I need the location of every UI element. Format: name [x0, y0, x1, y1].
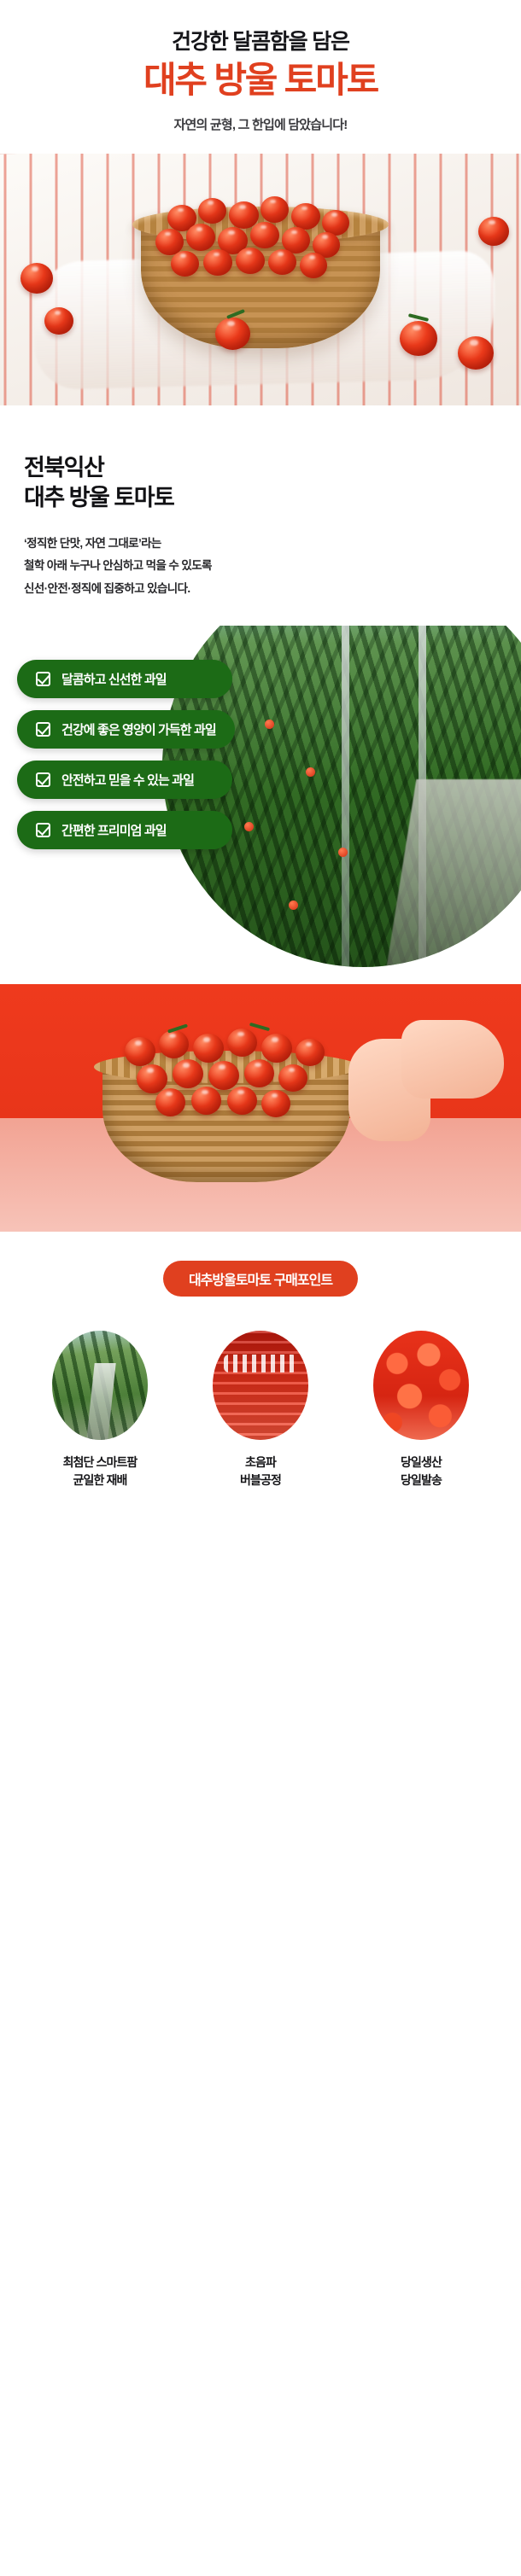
- intro-heading: 전북익산 대추 방울 토마토: [24, 453, 497, 514]
- checkbox-icon: [36, 823, 50, 837]
- feature-pill-label: 안전하고 믿을 수 있는 과일: [61, 771, 194, 789]
- hero-subtitle: 자연의 균형, 그 한입에 담았습니다!: [0, 115, 521, 133]
- feature-pill-list: 달콤하고 신선한 과일 건강에 좋은 영양이 가득한 과일 안전하고 믿을 수 …: [17, 660, 384, 861]
- feature-pill[interactable]: 건강에 좋은 영양이 가득한 과일: [17, 710, 235, 749]
- hero-photo: [0, 154, 521, 405]
- purchase-points-grid: 최첨단 스마트팜 균일한 재배 초음파 버블공정 당일생산 당일발송: [0, 1331, 521, 1489]
- smartfarm-photo: [52, 1331, 148, 1440]
- intro-body-line2: 철학 아래 누구나 안심하고 먹을 수 있도록: [24, 559, 212, 572]
- intro-body-line1: ‘정직한 단맛, 자연 그대로’라는: [24, 537, 161, 550]
- purchase-point-caption: 초음파 버블공정: [190, 1454, 331, 1489]
- tomato: [198, 198, 226, 224]
- same-day-photo: [373, 1331, 469, 1440]
- purchase-point-item: 최첨단 스마트팜 균일한 재배: [29, 1331, 171, 1489]
- tomato: [20, 263, 53, 294]
- page-title: 대추 방울 토마토: [0, 59, 521, 102]
- tomato-stem: [249, 1023, 270, 1031]
- tomato: [261, 1034, 292, 1063]
- tomato: [400, 321, 437, 356]
- purchase-point-item: 당일생산 당일발송: [350, 1331, 492, 1489]
- checkbox-icon: [36, 722, 50, 737]
- tomato-dot: [289, 900, 298, 910]
- intro-section: 전북익산 대추 방울 토마토 ‘정직한 단맛, 자연 그대로’라는 철학 아래 …: [0, 405, 521, 626]
- feature-pill-label: 건강에 좋은 영양이 가득한 과일: [61, 720, 216, 738]
- tomato: [203, 249, 232, 276]
- tomato: [227, 1029, 257, 1057]
- product-detail-page: 건강한 달콤함을 담은 대추 방울 토마토 자연의 균형, 그 한입에 담았습니…: [0, 0, 521, 1522]
- tomato: [173, 1059, 203, 1088]
- caption-line2: 버블공정: [240, 1473, 281, 1487]
- tomato: [125, 1037, 155, 1066]
- feature-pill[interactable]: 간편한 프리미엄 과일: [17, 811, 232, 849]
- tomato: [44, 307, 73, 335]
- tomato: [300, 253, 327, 278]
- tomato: [191, 1087, 221, 1115]
- tomato: [260, 196, 289, 223]
- tomato: [296, 1039, 325, 1066]
- tomato: [208, 1061, 239, 1090]
- tomato: [159, 1030, 189, 1058]
- checkbox-icon: [36, 672, 50, 686]
- caption-line1: 당일생산: [401, 1455, 442, 1469]
- tomato: [261, 1090, 290, 1117]
- bubble-process-photo: [213, 1331, 308, 1440]
- intro-body: ‘정직한 단맛, 자연 그대로’라는 철학 아래 누구나 안심하고 먹을 수 있…: [24, 533, 497, 600]
- tomato: [458, 336, 494, 370]
- tomato: [186, 224, 215, 251]
- checkbox-icon: [36, 772, 50, 787]
- tomato: [236, 248, 265, 274]
- caption-line2: 균일한 재배: [73, 1473, 127, 1487]
- hands-photo: [0, 984, 521, 1232]
- tomato: [250, 222, 279, 248]
- tomato: [155, 1088, 185, 1116]
- tomato: [268, 249, 296, 275]
- intro-body-line3: 신선·안전·정직에 집중하고 있습니다.: [24, 582, 190, 595]
- tomato: [244, 1059, 274, 1087]
- purchase-point-caption: 최첨단 스마트팜 균일한 재배: [29, 1454, 171, 1489]
- tomato: [278, 1064, 307, 1092]
- features-section: 달콤하고 신선한 과일 건강에 좋은 영양이 가득한 과일 안전하고 믿을 수 …: [0, 626, 521, 984]
- feature-pill[interactable]: 달콤하고 신선한 과일: [17, 660, 232, 698]
- tomato: [171, 251, 199, 277]
- tomato: [193, 1034, 224, 1063]
- hero-header: 건강한 달콤함을 담은 대추 방울 토마토 자연의 균형, 그 한입에 담았습니…: [0, 0, 521, 133]
- caption-line1: 최첨단 스마트팜: [63, 1455, 138, 1469]
- feature-pill-label: 간편한 프리미엄 과일: [61, 821, 167, 839]
- caption-line1: 초음파: [245, 1455, 276, 1469]
- tomato: [291, 203, 320, 230]
- feature-pill-label: 달콤하고 신선한 과일: [61, 670, 167, 688]
- intro-heading-line2: 대추 방울 토마토: [24, 485, 173, 510]
- caption-line2: 당일발송: [401, 1473, 442, 1487]
- purchase-point-item: 초음파 버블공정: [190, 1331, 331, 1489]
- purchase-point-caption: 당일생산 당일발송: [350, 1454, 492, 1489]
- purchase-points-banner: 대추방울토마토 구매포인트: [163, 1261, 358, 1297]
- hero-kicker: 건강한 달콤함을 담은: [0, 29, 521, 55]
- tomato: [215, 318, 250, 350]
- intro-heading-line1: 전북익산: [24, 455, 103, 481]
- tomato: [227, 1087, 257, 1115]
- purchase-points-section: 대추방울토마토 구매포인트 최첨단 스마트팜 균일한 재배 초음파 버블공정: [0, 1232, 521, 1522]
- tomato: [478, 217, 509, 246]
- feature-pill[interactable]: 안전하고 믿을 수 있는 과일: [17, 761, 232, 799]
- hand: [401, 1020, 504, 1099]
